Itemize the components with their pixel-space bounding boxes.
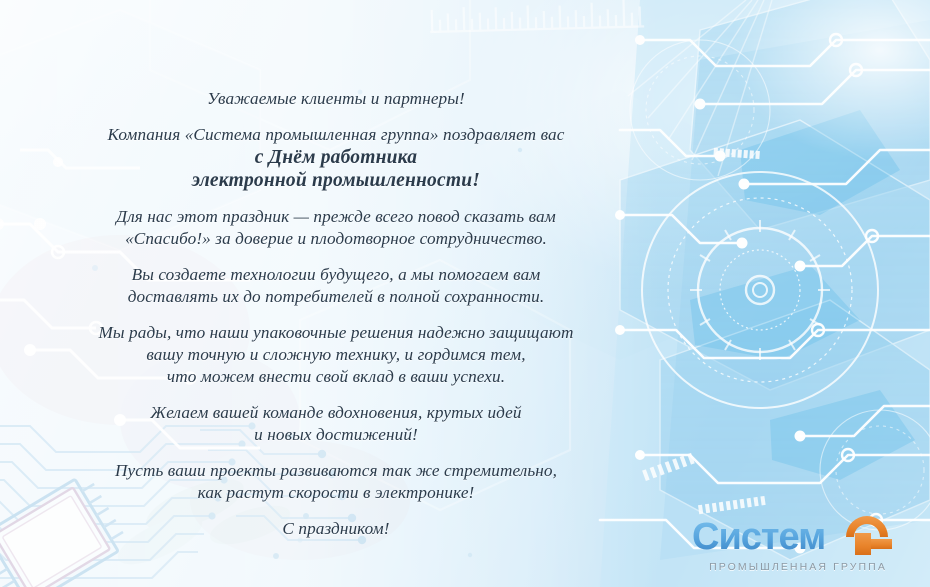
future-line-1: Вы создаете технологии будущего, а мы по… xyxy=(28,264,644,286)
paragraph-company: Компания «Система промышленная группа» п… xyxy=(28,124,644,192)
thanks-line-1: Для нас этот праздник — прежде всего пов… xyxy=(28,206,644,228)
holiday-line-1: С праздником! xyxy=(28,518,644,540)
paragraph-greeting: Уважаемые клиенты и партнеры! xyxy=(28,88,644,110)
greeting-line-1: Уважаемые клиенты и партнеры! xyxy=(28,88,644,110)
wish-line-2: и новых достижений! xyxy=(28,424,644,446)
company-line-3: электронной промышленности! xyxy=(28,169,644,192)
proud-line-1: Мы рады, что наши упаковочные решения на… xyxy=(28,322,644,344)
speed-line-2: как растут скорости в электронике! xyxy=(28,482,644,504)
logo-mark: Систем xyxy=(692,513,904,559)
wish-line-1: Желаем вашей команде вдохновения, крутых… xyxy=(28,402,644,424)
greeting-message: Уважаемые клиенты и партнеры! Компания «… xyxy=(28,88,644,546)
greeting-card: Уважаемые клиенты и партнеры! Компания «… xyxy=(0,0,930,587)
paragraph-future: Вы создаете технологии будущего, а мы по… xyxy=(28,264,644,308)
company-line-2: с Днём работника xyxy=(28,146,644,169)
logo-wordmark-icon: Систем xyxy=(692,513,904,559)
logo-subtitle: ПРОМЫШЛЕННАЯ ГРУППА xyxy=(692,561,904,573)
paragraph-wish: Желаем вашей команде вдохновения, крутых… xyxy=(28,402,644,446)
paragraph-speed: Пусть ваши проекты развиваются так же ст… xyxy=(28,460,644,504)
thanks-line-2: «Спасибо!» за доверие и плодотворное сот… xyxy=(28,228,644,250)
paragraph-proud: Мы рады, что наши упаковочные решения на… xyxy=(28,322,644,388)
proud-line-3: что можем внести свой вклад в ваши успех… xyxy=(28,366,644,388)
circuit-hud-decor xyxy=(600,0,930,560)
paragraph-holiday: С праздником! xyxy=(28,518,644,540)
future-line-2: доставлять их до потребителей в полной с… xyxy=(28,286,644,308)
paragraph-thanks: Для нас этот праздник — прежде всего пов… xyxy=(28,206,644,250)
proud-line-2: вашу точную и сложную технику, и гордимс… xyxy=(28,344,644,366)
company-logo[interactable]: Систем ПРОМЫШЛЕННАЯ ГРУППА xyxy=(692,513,904,573)
measurement-scale-decor xyxy=(430,0,645,32)
company-line-1: Компания «Система промышленная группа» п… xyxy=(28,124,644,146)
speed-line-1: Пусть ваши проекты развиваются так же ст… xyxy=(28,460,644,482)
svg-text:Систем: Систем xyxy=(692,516,825,558)
